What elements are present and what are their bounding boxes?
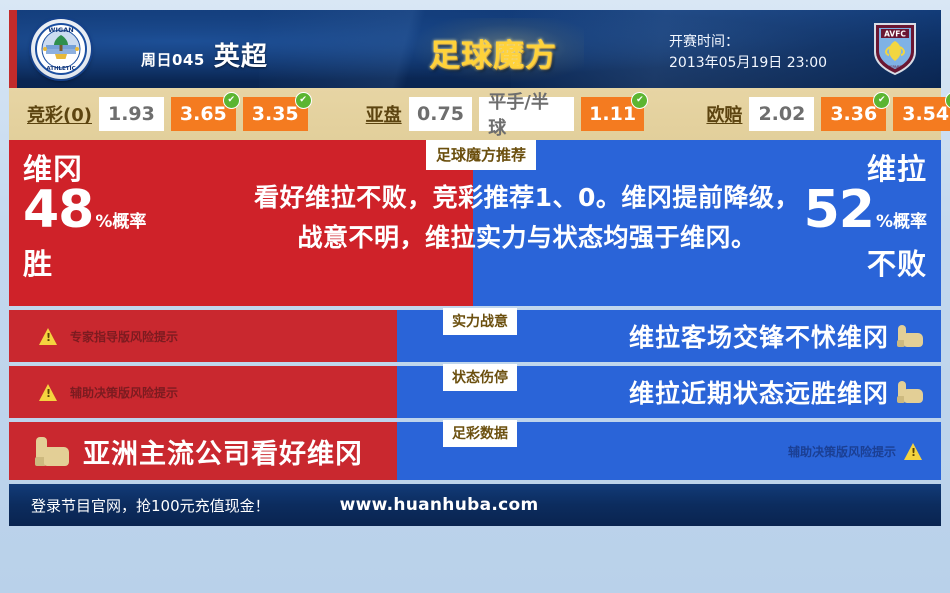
odds-group-label: 竞彩(0)	[27, 101, 92, 127]
odds-cell[interactable]: 1.93	[99, 97, 164, 131]
footer-website-url[interactable]: www.huanhuba.com	[340, 495, 539, 515]
odds-cell[interactable]: 1.11 ✔	[581, 97, 645, 131]
section-tab-strength: 实力战意	[443, 308, 517, 335]
handicap-value: 平手/半球	[488, 88, 564, 140]
odds-value: 2.02	[758, 103, 805, 125]
risk-notice-panel: 辅助决策版风险提示	[9, 366, 397, 418]
risk-notice-text: 辅助决策版风险提示	[788, 443, 896, 460]
svg-text:AVFC: AVFC	[884, 30, 906, 39]
warning-triangle-icon	[39, 328, 58, 345]
home-probability-number: 48	[23, 186, 93, 234]
match-round: 周日045	[141, 49, 205, 70]
odds-value: 3.65	[180, 103, 227, 125]
odds-value: 0.75	[417, 103, 464, 125]
verdict-text: 维拉客场交锋不怵维冈	[629, 318, 889, 354]
odds-value: 1.93	[108, 103, 155, 125]
analysis-row-betting-data: 亚洲主流公司看好维冈 辅助决策版风险提示 足彩数据	[9, 422, 941, 480]
kickoff-value: 2013年05月19日 23:00	[669, 53, 827, 74]
odds-value: 1.11	[589, 103, 636, 125]
odds-cell[interactable]: 3.35 ✔	[243, 97, 308, 131]
home-probability-panel: 维冈 48 %概率 胜	[9, 140, 241, 306]
odds-value: 3.35	[252, 103, 299, 125]
odds-group-label: 欧赔	[706, 101, 742, 127]
svg-text:ATHLETIC: ATHLETIC	[46, 66, 75, 72]
brand-logo: 足球魔方	[417, 32, 569, 72]
risk-notice-panel: 专家指导版风险提示	[9, 310, 397, 362]
analysis-row-form: 辅助决策版风险提示 维拉近期状态远胜维冈 状态伤停	[9, 366, 941, 418]
footer-bar: 登录节目官网，抢100元充值现金！ www.huanhuba.com	[9, 484, 941, 526]
odds-group-jingcai: 竞彩(0) 1.93 3.65 ✔ 3.35 ✔	[27, 97, 308, 131]
thumbs-up-icon	[897, 325, 923, 347]
kickoff-label: 开赛时间：	[669, 32, 827, 53]
thumbs-up-icon	[897, 381, 923, 403]
home-probability-suffix: %概率	[95, 198, 146, 246]
odds-group-oupei: 欧赔 2.02 3.36 ✔ 3.54 ✔	[706, 97, 950, 131]
home-outcome-label: 胜	[23, 246, 241, 282]
odds-cell[interactable]: 3.65 ✔	[171, 97, 236, 131]
probability-section: 维冈 48 %概率 胜 维拉 52 %概率 不败 足球魔方推荐 看好维拉不败，竞…	[9, 140, 941, 306]
check-badge-icon: ✔	[295, 92, 312, 109]
check-badge-icon: ✔	[873, 92, 890, 109]
section-tab-betting-data: 足彩数据	[443, 420, 517, 447]
betting-data-verdict-panel: 亚洲主流公司看好维冈	[9, 422, 397, 480]
odds-value: 3.36	[830, 103, 877, 125]
broadcast-graphic-frame: WIGAN ATHLETIC 周日045 英超 足球魔方 开赛时间： 2013年…	[9, 10, 941, 576]
odds-cell[interactable]: 0.75	[409, 97, 473, 131]
svg-text:WIGAN: WIGAN	[48, 26, 73, 34]
header-accent-bar	[9, 10, 17, 88]
thumbs-up-icon	[35, 437, 69, 466]
recommendation-text: 看好维拉不败，竞彩推荐1、0。维冈提前降级，战意不明，维拉实力与状态均强于维冈。	[247, 178, 807, 258]
warning-triangle-icon	[904, 443, 923, 460]
odds-cell[interactable]: 2.02	[749, 97, 814, 131]
recommendation-tab-label: 足球魔方推荐	[426, 140, 536, 170]
section-tab-form: 状态伤停	[443, 364, 517, 391]
match-header: WIGAN ATHLETIC 周日045 英超 足球魔方 开赛时间： 2013年…	[9, 10, 941, 88]
league-name: 英超	[214, 36, 268, 73]
risk-notice-text: 辅助决策版风险提示	[70, 384, 178, 401]
odds-value: 3.54	[902, 103, 949, 125]
wigan-athletic-crest-icon: WIGAN ATHLETIC	[31, 19, 91, 79]
odds-cell[interactable]: 3.36 ✔	[821, 97, 886, 131]
kickoff-info: 开赛时间： 2013年05月19日 23:00	[669, 32, 827, 74]
footer-promo-text: 登录节目官网，抢100元充值现金！	[31, 495, 270, 516]
verdict-text: 维拉近期状态远胜维冈	[629, 374, 889, 410]
betting-data-verdict-text: 亚洲主流公司看好维冈	[83, 432, 363, 471]
away-probability-suffix: %概率	[876, 198, 927, 246]
odds-bar: 竞彩(0) 1.93 3.65 ✔ 3.35 ✔ 亚盘 0.75 平手/半球 1…	[9, 88, 941, 140]
odds-group-yapan: 亚盘 0.75 平手/半球 1.11 ✔	[366, 97, 645, 131]
analysis-row-strength: 专家指导版风险提示 维拉客场交锋不怵维冈 实力战意	[9, 310, 941, 362]
check-badge-icon: ✔	[223, 92, 240, 109]
risk-notice-text: 专家指导版风险提示	[70, 328, 178, 345]
svg-text:PREPARED: PREPARED	[886, 65, 905, 69]
aston-villa-crest-icon: AVFC PREPARED	[869, 18, 921, 80]
home-probability-value: 48 %概率	[23, 186, 241, 246]
away-probability-number: 52	[804, 186, 874, 234]
match-title: 周日045 英超	[141, 36, 268, 73]
odds-group-label: 亚盘	[366, 101, 402, 127]
handicap-cell[interactable]: 平手/半球	[479, 97, 573, 131]
check-badge-icon: ✔	[631, 92, 648, 109]
odds-cell[interactable]: 3.54 ✔	[893, 97, 950, 131]
warning-triangle-icon	[39, 384, 58, 401]
